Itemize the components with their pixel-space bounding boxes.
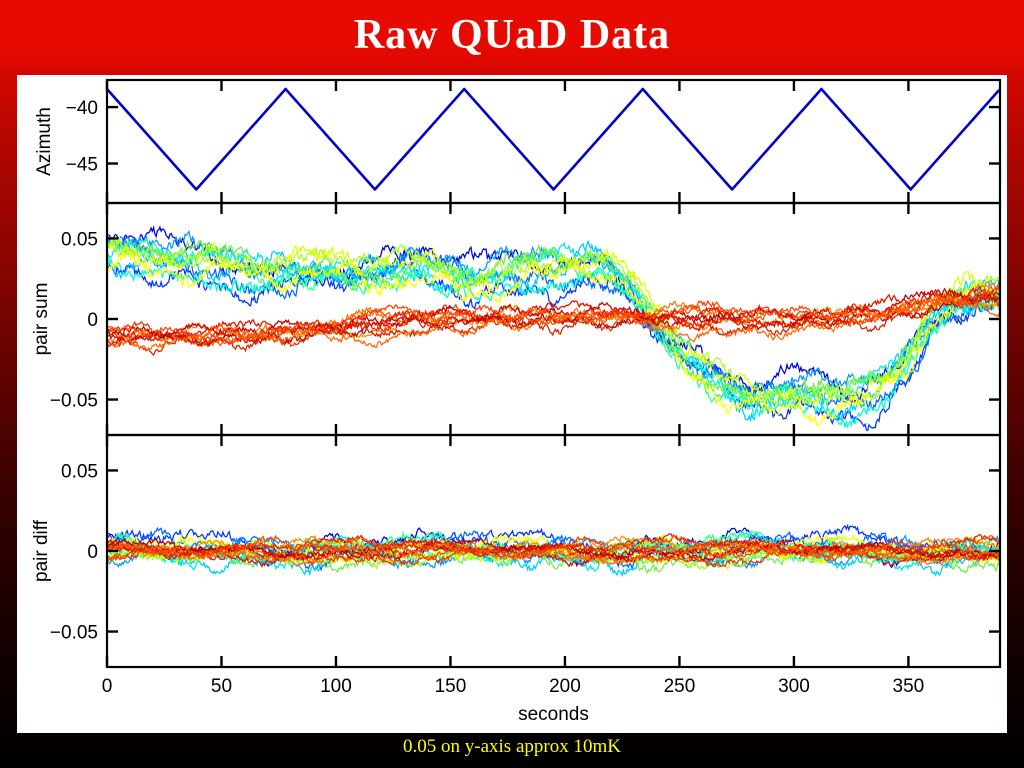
- panel-frame: [107, 80, 1000, 203]
- panel-data-pair-sum: [107, 227, 1000, 430]
- ytick-label: −0.05: [50, 391, 98, 412]
- panel-data-azimuth: [107, 89, 999, 189]
- x-axis-label: seconds: [518, 704, 589, 725]
- slide: Raw QUaD Data −40−45Azimuth0.050−0.05pai…: [0, 0, 1024, 768]
- panel-pair-sum: 0.050−0.05pair sum: [31, 203, 1000, 435]
- ytick-label: 0.05: [61, 229, 98, 250]
- xtick-label: 150: [435, 676, 467, 697]
- page-title: Raw QUaD Data: [0, 8, 1024, 62]
- ytick-label: 0.05: [61, 461, 98, 482]
- xtick-label: 250: [664, 676, 696, 697]
- ytick-label: −40: [66, 98, 98, 119]
- ytick-label: −0.05: [50, 623, 98, 644]
- trace-warm-group-9: [107, 296, 1000, 350]
- xtick-label: 0: [102, 676, 113, 697]
- title-bar: Raw QUaD Data: [0, 0, 1024, 72]
- xtick-label: 200: [549, 676, 581, 697]
- panel-pair-diff: 0.050−0.05pair diff: [31, 435, 1000, 667]
- trace-azimuth-scan: [107, 89, 999, 189]
- xtick-label: 300: [778, 676, 810, 697]
- xtick-label: 100: [320, 676, 352, 697]
- panel-ylabel-azimuth: Azimuth: [34, 107, 55, 176]
- panel-ylabel-pair-diff: pair diff: [31, 519, 52, 582]
- panel-data-pair-diff: [107, 526, 1000, 576]
- ytick-label: 0: [87, 542, 98, 563]
- quad-timestream-plot: −40−45Azimuth0.050−0.05pair sum0.050−0.0…: [17, 75, 1007, 733]
- ytick-label: −45: [66, 155, 98, 176]
- xtick-label: 350: [893, 676, 925, 697]
- slide-caption: 0.05 on y-axis approx 10mK: [0, 733, 1024, 761]
- ytick-label: 0: [87, 310, 98, 331]
- xtick-label: 50: [211, 676, 232, 697]
- panel-azimuth: −40−45Azimuth: [34, 80, 1000, 203]
- panel-ylabel-pair-sum: pair sum: [31, 283, 52, 356]
- figure: −40−45Azimuth0.050−0.05pair sum0.050−0.0…: [17, 75, 1007, 733]
